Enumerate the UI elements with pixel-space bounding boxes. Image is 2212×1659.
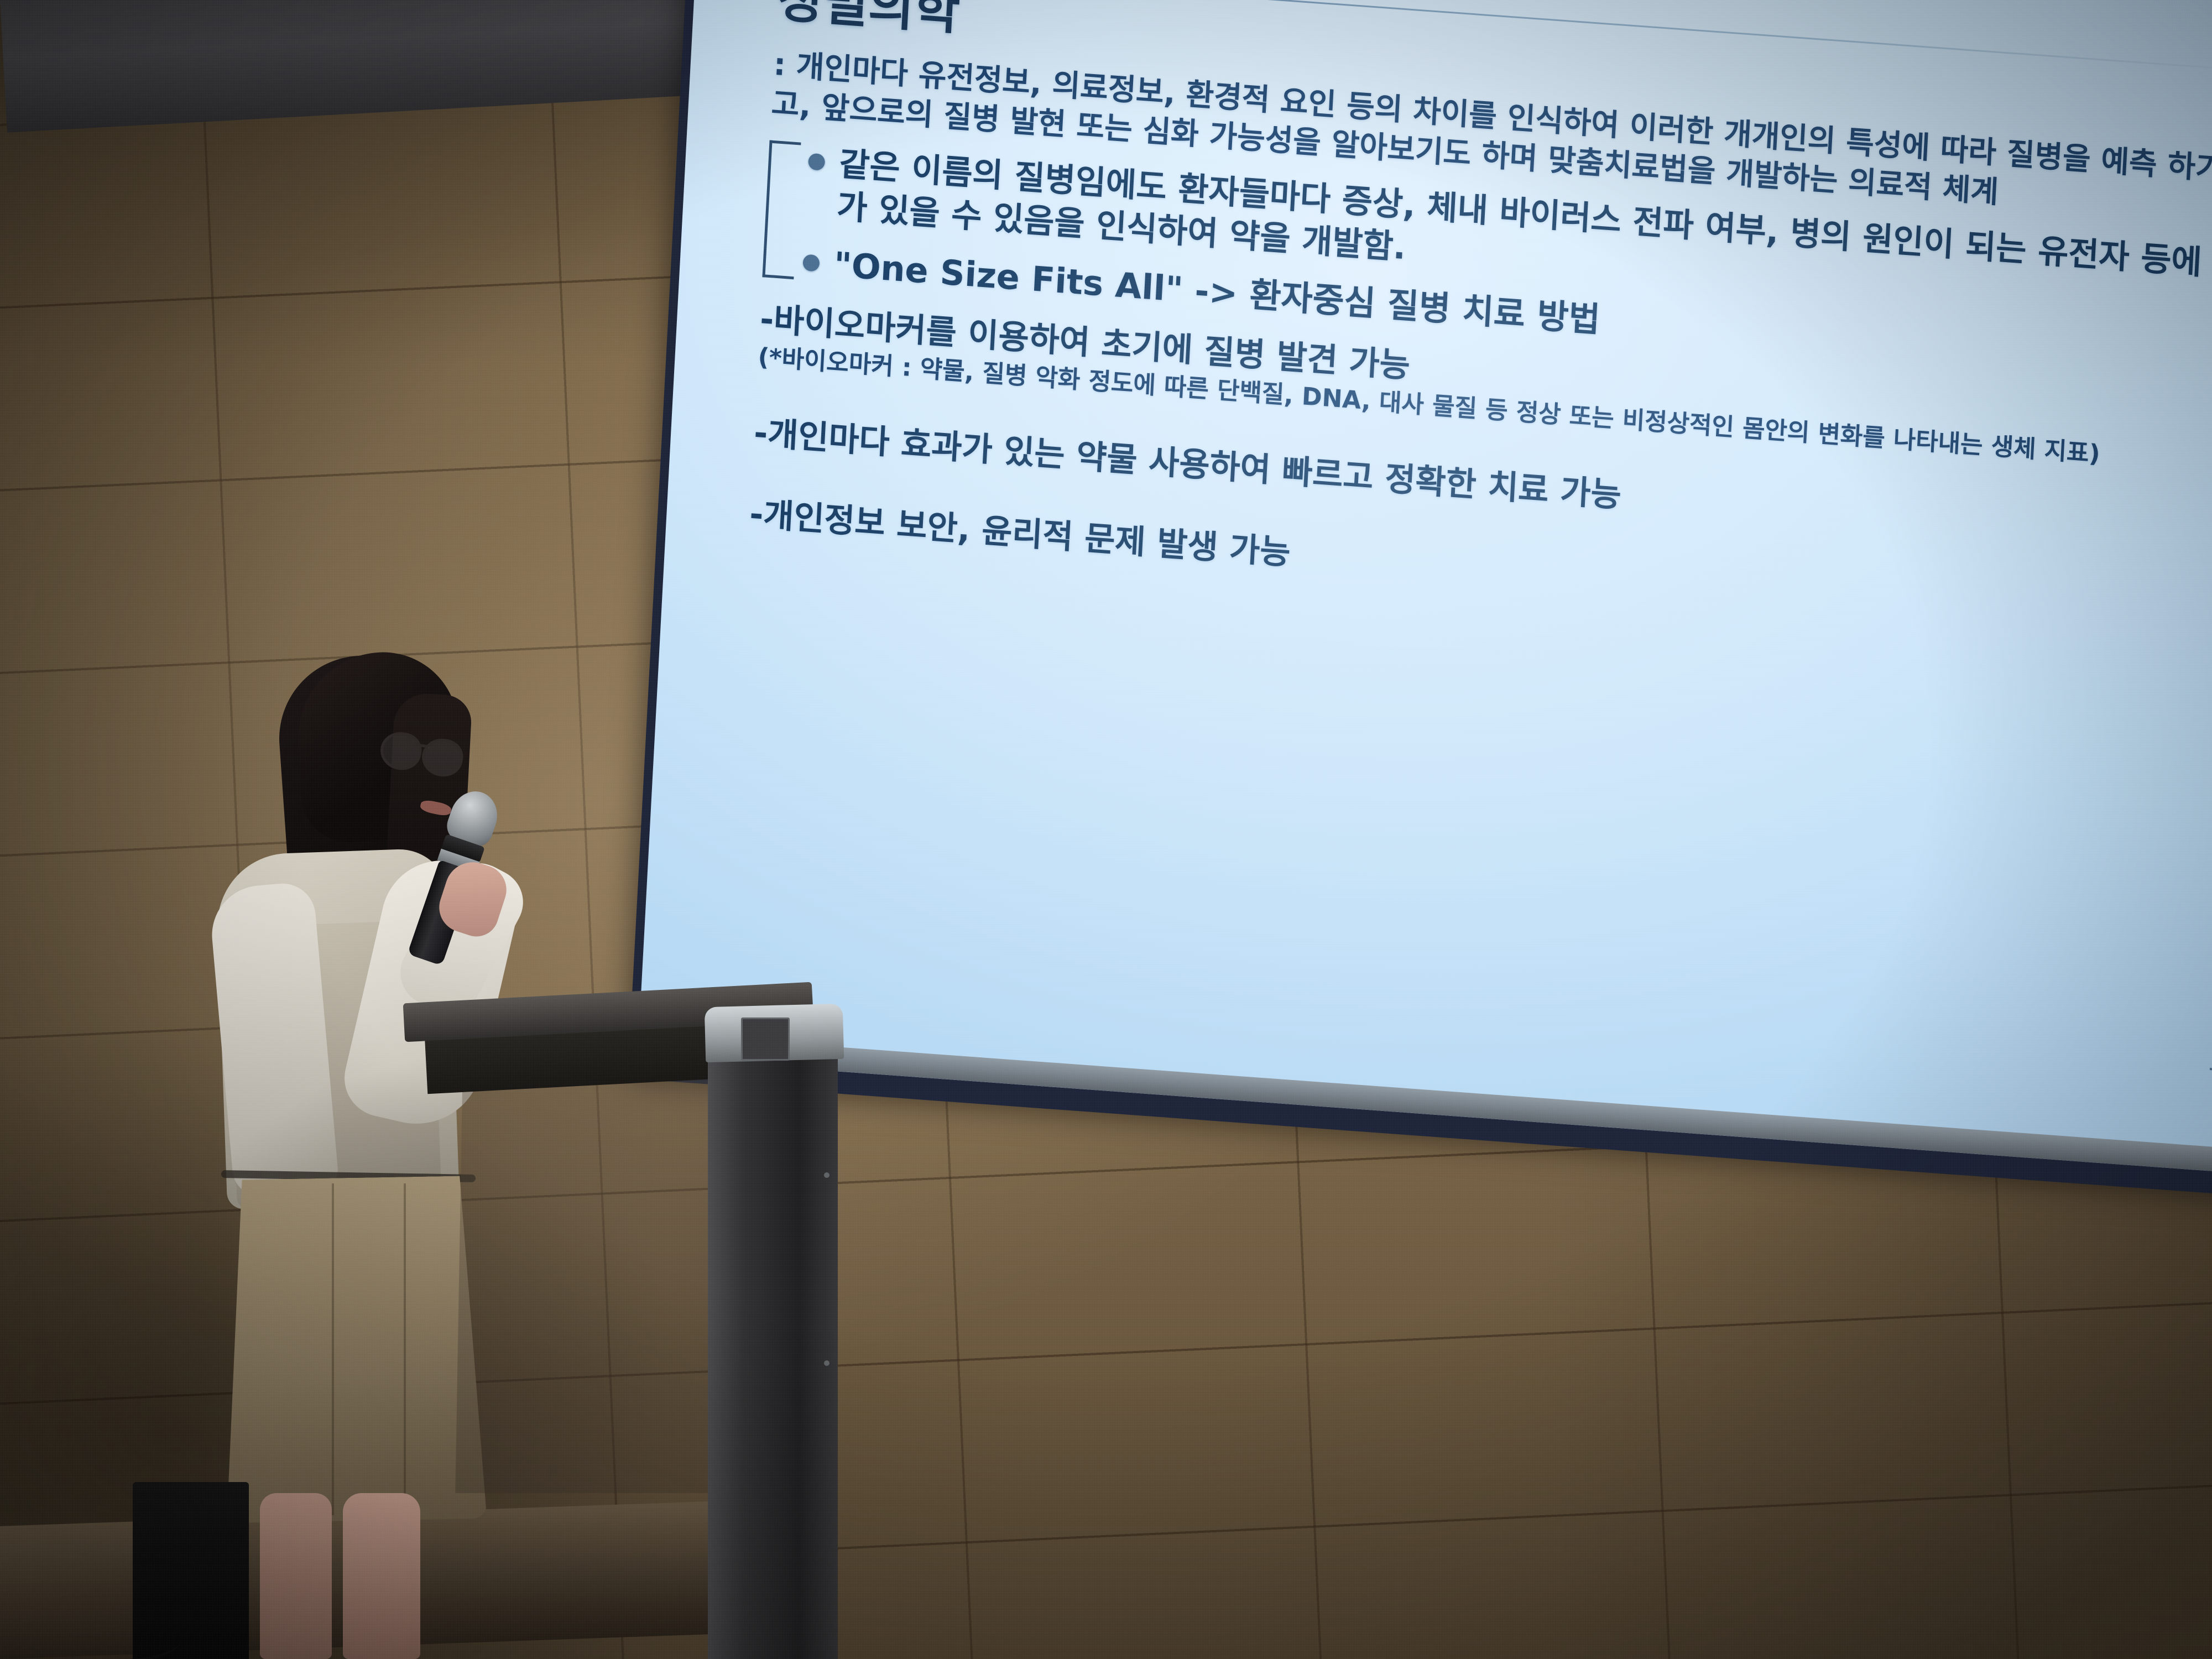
presentation-photo-scene: 정밀의학의 정의 및 장단점 정밀의학 : 개인마다 유전정보, 의료정보, 환… xyxy=(0,0,2212,1659)
projection-screen: 정밀의학의 정의 및 장단점 정밀의학 : 개인마다 유전정보, 의료정보, 환… xyxy=(628,0,2212,1199)
lectern-screw xyxy=(824,1172,830,1178)
projected-slide: 정밀의학의 정의 및 장단점 정밀의학 : 개인마다 유전정보, 의료정보, 환… xyxy=(638,0,2212,1176)
page-number-rule xyxy=(2210,1068,2212,1076)
page-number-text: 03 xyxy=(2208,1076,2212,1115)
bullet-dot-icon xyxy=(808,153,826,170)
slide-page-number: 03 xyxy=(2208,1068,2212,1115)
lectern-control-panel[interactable] xyxy=(741,1018,790,1061)
lectern-column xyxy=(708,1029,838,1659)
skirt-pleat xyxy=(332,1183,334,1515)
cable xyxy=(83,1620,182,1659)
left-leg xyxy=(260,1493,332,1659)
lectern-screw xyxy=(824,1360,830,1366)
lectern xyxy=(387,940,841,1659)
left-bracket-glyph xyxy=(762,140,801,279)
slide-content: 정밀의학의 정의 및 장단점 정밀의학 : 개인마다 유전정보, 의료정보, 환… xyxy=(638,0,2212,1176)
bullet-dot-icon xyxy=(802,254,820,272)
